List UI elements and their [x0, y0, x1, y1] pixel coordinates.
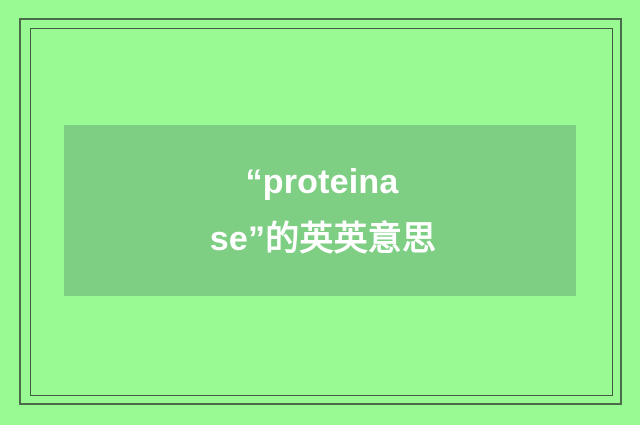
headline-line-2: se”的英英意思	[210, 211, 436, 268]
headline-line-1: “proteina	[246, 154, 399, 211]
image-canvas: “proteina se”的英英意思	[0, 0, 640, 425]
headline-banner: “proteina se”的英英意思	[64, 125, 576, 296]
